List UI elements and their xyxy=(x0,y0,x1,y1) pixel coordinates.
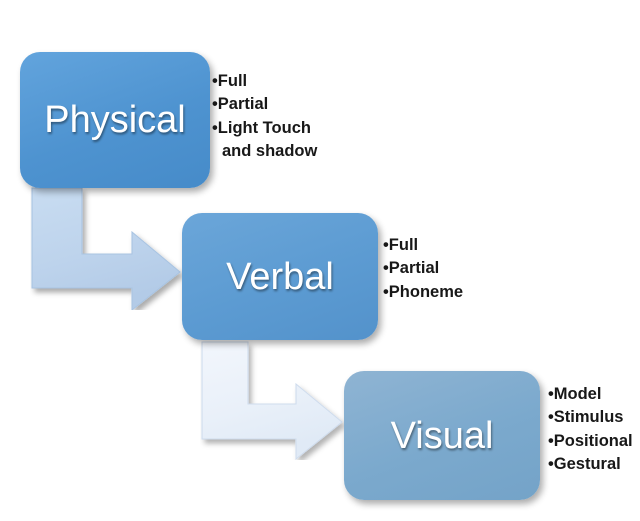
node-visual[interactable]: Visual xyxy=(344,371,540,500)
bullet-list-verbal: •Full •Partial •Phoneme xyxy=(383,234,463,304)
list-item-label: Partial xyxy=(389,259,439,277)
list-item: •Full xyxy=(383,234,463,257)
list-item-label: Phoneme xyxy=(389,283,463,301)
diagram-canvas: Physical •Full •Partial •Light Touch and… xyxy=(0,0,640,521)
list-item-label: Model xyxy=(554,385,602,403)
list-item-label: Stimulus xyxy=(554,408,624,426)
list-item: •Light Touch xyxy=(212,117,317,140)
list-item-label: Partial xyxy=(218,95,268,113)
bullet-list-physical: •Full •Partial •Light Touch and shadow xyxy=(212,70,317,164)
list-item: •Model xyxy=(548,383,633,406)
node-verbal-label: Verbal xyxy=(226,258,334,296)
bent-arrow-verbal-to-visual xyxy=(200,340,352,460)
list-item-label: Positional xyxy=(554,432,633,450)
list-item: •Phoneme xyxy=(383,281,463,304)
bent-arrow-physical-to-verbal xyxy=(30,186,195,310)
node-visual-label: Visual xyxy=(391,417,494,455)
list-item: •Full xyxy=(212,70,317,93)
list-item: •Gestural xyxy=(548,453,633,476)
bullet-list-visual: •Model •Stimulus •Positional •Gestural xyxy=(548,383,633,477)
node-physical[interactable]: Physical xyxy=(20,52,210,188)
list-item-label: Full xyxy=(389,236,418,254)
list-item: •Stimulus xyxy=(548,406,633,429)
list-item-label: Light Touch xyxy=(218,119,311,137)
node-physical-label: Physical xyxy=(44,101,186,139)
list-item-label: Gestural xyxy=(554,455,621,473)
list-item: •Partial xyxy=(383,257,463,280)
list-item: •Positional xyxy=(548,430,633,453)
list-item-label: Full xyxy=(218,72,247,90)
list-item: •Partial xyxy=(212,93,317,116)
list-item-continuation: and shadow xyxy=(212,140,317,163)
bent-arrow-shape xyxy=(32,188,180,310)
bent-arrow-shape xyxy=(202,342,342,459)
node-verbal[interactable]: Verbal xyxy=(182,213,378,340)
